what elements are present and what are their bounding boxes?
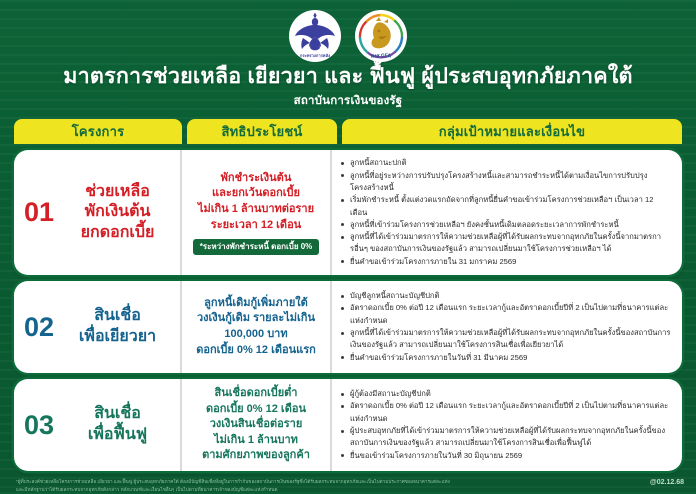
row-program-name: สินเชื่อ เพื่อฟื้นฟู	[63, 404, 172, 446]
row-program-cell: 03 สินเชื่อ เพื่อฟื้นฟู	[14, 379, 182, 471]
table-header-row: โครงการ สิทธิประโยชน์ กลุ่มเป้าหมายและเง…	[14, 119, 682, 144]
list-item: อัตราดอกเบี้ย 0% ต่อปี 12 เดือนแรก ระยะเ…	[341, 302, 672, 327]
program-name-line: เพื่อเยียวยา	[63, 327, 172, 348]
row-conditions-cell: บัญชีลูกหนี้สถานะบัญชีปกติ อัตราดอกเบี้ย…	[332, 281, 682, 373]
program-name-line: พักเงินต้น	[63, 202, 172, 223]
benefit-line: ตามศักยภาพของลูกค้า	[202, 448, 310, 464]
program-name-line: ช่วยเหลือ	[63, 182, 172, 203]
measures-table: โครงการ สิทธิประโยชน์ กลุ่มเป้าหมายและเง…	[14, 119, 682, 471]
list-item: ลูกหนี้สถานะปกติ	[341, 157, 672, 169]
list-item: ลูกหนี้ที่ได้เข้าร่วมมาตรการให้ความช่วยเ…	[341, 327, 672, 352]
footnote-line: และมีหลักฐานว่าได้รับผลกระทบจากอุทกภัยดั…	[16, 486, 680, 494]
benefit-line: ดอกเบี้ย 0% 12 เดือนแรก	[196, 343, 316, 359]
list-item: เริ่มพักชำระหนี้ ตั้งแต่งวดแรกถัดจากที่ล…	[341, 194, 672, 219]
benefit-text: ลูกหนี้เดิมกู้เพิ่มภายใต้ วงเงินกู้เดิม …	[196, 296, 316, 358]
footnote-line: *ผู้ที่ประสงค์ช่วยเหลือโครงการช่วยเหลือ …	[16, 478, 680, 486]
program-name-line: สินเชื่อ	[63, 404, 172, 425]
list-item: ลูกหนี้ที่เข้าร่วมโครงการช่วยเหลือฯ ยังค…	[341, 219, 672, 231]
row-conditions-cell: ผู้กู้ต้องมีสถานะบัญชีปกติ อัตราดอกเบี้ย…	[332, 379, 682, 471]
page-subtitle: สถาบันการเงินของรัฐ	[0, 92, 696, 110]
row-number: 02	[24, 314, 54, 341]
program-name-line: สินเชื่อ	[63, 306, 172, 327]
date-stamp: @02.12.68	[650, 479, 684, 486]
ministry-of-finance-emblem-icon: กระทรวงการคลัง	[289, 10, 341, 62]
list-item: ผู้ประสบอุทกภัยที่ได้เข้าร่วมมาตรการให้ค…	[341, 425, 672, 450]
row-benefit-cell: พักชำระเงินต้น และยกเว้นดอกเบี้ย ไม่เกิน…	[182, 150, 332, 275]
column-header-conditions: กลุ่มเป้าหมายและเงื่อนไข	[342, 119, 682, 144]
list-item: ลูกหนี้ที่ได้เข้าร่วมมาตรการให้ความช่วยเ…	[341, 231, 672, 256]
svg-text:สงส GFA: สงส GFA	[371, 53, 392, 59]
row-benefit-cell: ลูกหนี้เดิมกู้เพิ่มภายใต้ วงเงินกู้เดิม …	[182, 281, 332, 373]
benefit-line: ลูกหนี้เดิมกู้เพิ่มภายใต้	[196, 296, 316, 312]
benefit-line: ไม่เกิน 1 ล้านบาทต่อราย	[198, 202, 314, 218]
conditions-list: ลูกหนี้สถานะปกติ ลูกหนี้ที่อยู่ระหว่างกา…	[341, 157, 672, 268]
row-program-name: สินเชื่อ เพื่อเยียวยา	[63, 306, 172, 348]
list-item: อัตราดอกเบี้ย 0% ต่อปี 12 เดือนแรก ระยะเ…	[341, 400, 672, 425]
benefit-text: สินเชื่อดอกเบี้ยต่ำ ดอกเบี้ย 0% 12 เดือน…	[202, 386, 310, 464]
svg-text:กระทรวงการคลัง: กระทรวงการคลัง	[300, 53, 330, 58]
conditions-list: ผู้กู้ต้องมีสถานะบัญชีปกติ อัตราดอกเบี้ย…	[341, 388, 672, 462]
benefit-line: และยกเว้นดอกเบี้ย	[198, 186, 314, 202]
list-item: ลูกหนี้ที่อยู่ระหว่างการปรับปรุงโครงสร้า…	[341, 170, 672, 195]
row-number: 03	[24, 412, 54, 439]
list-item: ยื่นขอเข้าร่วมโครงการภายในวันที่ 30 มิถุ…	[341, 450, 672, 462]
benefit-line: ระยะเวลา 12 เดือน	[198, 218, 314, 234]
program-name-line: เพื่อฟื้นฟู	[63, 425, 172, 446]
poster-root: กระทรวงการคลัง	[0, 0, 696, 492]
list-item: บัญชีลูกหนี้สถานะบัญชีปกติ	[341, 290, 672, 302]
row-program-name: ช่วยเหลือ พักเงินต้น ยกดอกเบี้ย	[63, 182, 172, 244]
benefit-line: ไม่เกิน 1 ล้านบาท	[202, 433, 310, 449]
column-header-benefits: สิทธิประโยชน์	[187, 119, 337, 144]
benefit-line: วงเงินกู้เดิม รายละไม่เกิน	[196, 311, 316, 327]
benefit-line: สินเชื่อดอกเบี้ยต่ำ	[202, 386, 310, 402]
program-name-line: ยกดอกเบี้ย	[63, 223, 172, 244]
benefit-line: พักชำระเงินต้น	[198, 171, 314, 187]
column-header-program: โครงการ	[14, 119, 182, 144]
row-number: 01	[24, 199, 54, 226]
logo-row: กระทรวงการคลัง	[0, 0, 696, 62]
row-conditions-cell: ลูกหนี้สถานะปกติ ลูกหนี้ที่อยู่ระหว่างกา…	[332, 150, 682, 275]
benefit-badge: *ระหว่างพักชำระหนี้ ดอกเบี้ย 0%	[193, 239, 320, 255]
benefit-line: ดอกเบี้ย 0% 12 เดือน	[202, 402, 310, 418]
table-row: 03 สินเชื่อ เพื่อฟื้นฟู สินเชื่อดอกเบี้ย…	[14, 379, 682, 471]
list-item: ยื่นคำขอเข้าร่วมโครงการภายใน 31 มกราคม 2…	[341, 256, 672, 268]
table-row: 02 สินเชื่อ เพื่อเยียวยา ลูกหนี้เดิมกู้เ…	[14, 281, 682, 373]
conditions-list: บัญชีลูกหนี้สถานะบัญชีปกติ อัตราดอกเบี้ย…	[341, 290, 672, 364]
title-block: มาตรการช่วยเหลือ เยียวยา และ ฟื้นฟู ผู้ป…	[0, 62, 696, 110]
table-row: 01 ช่วยเหลือ พักเงินต้น ยกดอกเบี้ย พักชำ…	[14, 150, 682, 275]
benefit-line: 100,000 บาท	[196, 327, 316, 343]
row-program-cell: 02 สินเชื่อ เพื่อเยียวยา	[14, 281, 182, 373]
benefit-line: วงเงินสินเชื่อต่อราย	[202, 417, 310, 433]
benefit-text: พักชำระเงินต้น และยกเว้นดอกเบี้ย ไม่เกิน…	[198, 171, 314, 233]
list-item: ผู้กู้ต้องมีสถานะบัญชีปกติ	[341, 388, 672, 400]
page-title: มาตรการช่วยเหลือ เยียวยา และ ฟื้นฟู ผู้ป…	[0, 64, 696, 89]
sfis-gfa-emblem-icon: สงส GFA	[355, 10, 407, 62]
row-benefit-cell: สินเชื่อดอกเบี้ยต่ำ ดอกเบี้ย 0% 12 เดือน…	[182, 379, 332, 471]
list-item: ยื่นคำขอเข้าร่วมโครงการภายในวันที่ 31 มี…	[341, 352, 672, 364]
row-program-cell: 01 ช่วยเหลือ พักเงินต้น ยกดอกเบี้ย	[14, 150, 182, 275]
